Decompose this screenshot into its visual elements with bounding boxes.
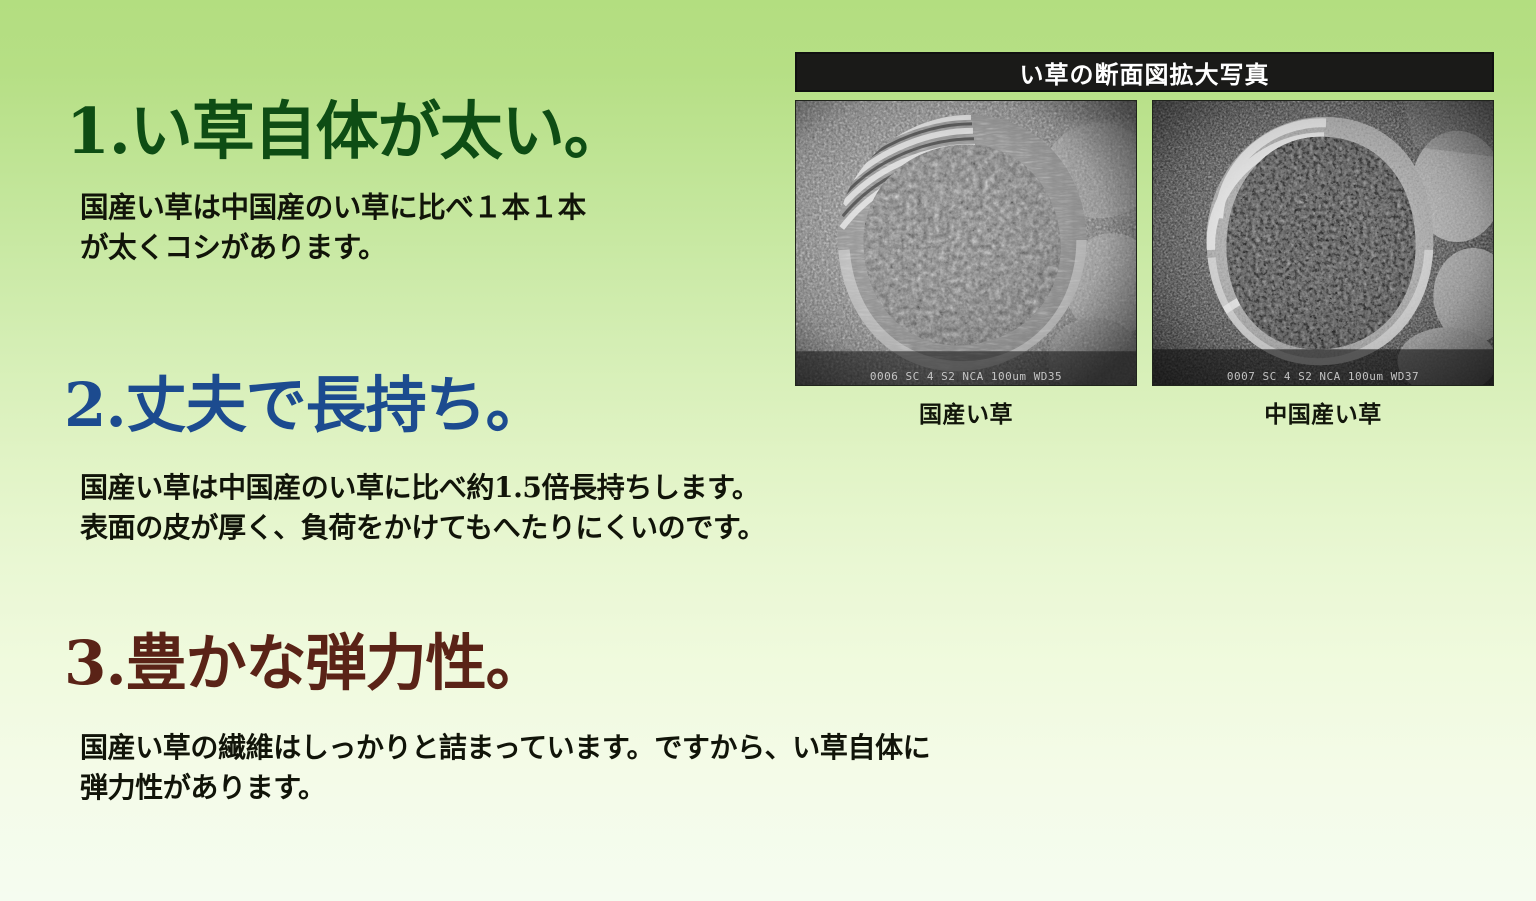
photo-panel: い草の断面図拡大写真 [795,52,1494,429]
photo-panel-banner: い草の断面図拡大写真 [795,52,1494,92]
feature-section-3: 3.豊かな弾力性。 国産い草の繊維はしっかりと詰まっています。ですから、い草自体… [0,630,1180,808]
photo-cell-domestic: 0006 SC 4 S2 NCA 100um WD35 国産い草 [795,100,1137,429]
slide-canvas: 1.い草自体が太い。 国産い草は中国産のい草に比べ１本１本 が太くコシがあります… [0,0,1536,901]
photo-row: 0006 SC 4 S2 NCA 100um WD35 国産い草 [795,100,1494,429]
photo-cell-chinese: 0007 SC 4 S2 NCA 100um WD37 中国産い草 [1152,100,1494,429]
sem-cross-section-chinese-rush-image: 0007 SC 4 S2 NCA 100um WD37 [1152,100,1494,386]
sem-cross-section-domestic-rush-image: 0006 SC 4 S2 NCA 100um WD35 [795,100,1137,386]
feature-2-body: 国産い草は中国産のい草に比べ約1.5倍長持ちします。 表面の皮が厚く、負荷をかけ… [0,468,1180,548]
feature-3-body: 国産い草の繊維はしっかりと詰まっています。ですから、い草自体に 弾力性があります… [0,728,1180,808]
photo-caption-domestic: 国産い草 [795,395,1137,429]
photo-caption-chinese: 中国産い草 [1152,395,1494,429]
feature-3-heading: 3.豊かな弾力性。 [0,630,1180,698]
